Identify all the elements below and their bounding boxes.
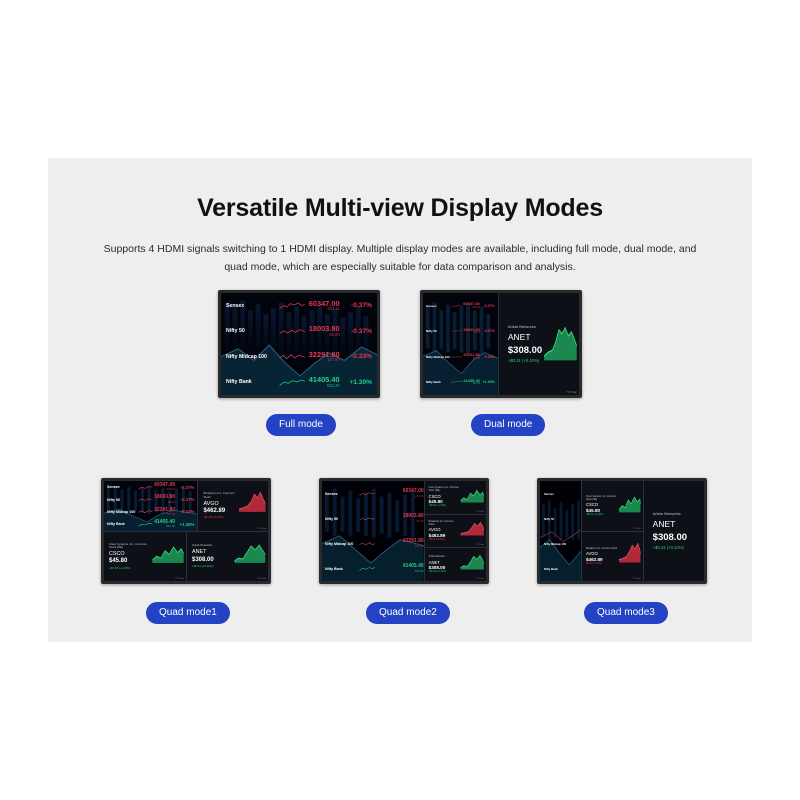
sparkline-icon — [279, 301, 306, 310]
index-name: Sensex — [540, 492, 581, 496]
index-name: Nifty Bank — [540, 567, 581, 571]
index-change: 66.20 — [168, 501, 175, 504]
index-row: Nifty Midcap 100 32291.80 107.00 -0.33% — [221, 344, 377, 370]
index-name: Nifty Bank — [322, 567, 359, 571]
index-name: Nifty 50 — [423, 329, 451, 333]
stock-change: +$0.31 (+0.10%) — [192, 564, 232, 568]
area-chart-icon — [459, 548, 486, 581]
stock-ticker: AVGO — [586, 551, 617, 556]
chart-label: YTD Chart — [257, 578, 266, 580]
stock-change: +$0.31 (+0.10%) — [429, 571, 459, 573]
index-row: Nifty Bank — [540, 556, 581, 581]
index-name: Nifty Bank — [104, 522, 138, 526]
index-change: 107.00 — [473, 358, 480, 361]
chart-label: YTD Chart — [476, 579, 484, 580]
index-row: Nifty Midcap 100 32291.80 107.00 -0.33% — [104, 506, 197, 518]
quad1-bottom-row: Cisco Systems, Inc. Common Stock (DE) CS… — [104, 532, 268, 582]
index-row: Nifty 50 — [540, 506, 581, 531]
index-change: 224.11 — [166, 488, 175, 491]
stock-price: $308.00 — [653, 532, 704, 543]
sparkline-icon — [138, 509, 153, 514]
chart-label: YTD Chart — [476, 512, 484, 513]
page-description: Supports 4 HDMI signals switching to 1 H… — [100, 240, 700, 277]
stock-chart: YTD Chart — [617, 481, 642, 531]
sparkline-icon — [359, 541, 375, 547]
quad1-top-row: Sensex 60347.00 224.11 -0.37% Nifty 5 — [104, 481, 268, 531]
index-values: 32291.80 107.00 — [463, 353, 480, 360]
index-row: Nifty Bank 41405.40 532.30 +1.30% — [221, 370, 377, 396]
index-row: Nifty Midcap 100 32291.80 107.00 -0.33% — [423, 344, 498, 370]
stock-company: Arista Networks — [653, 512, 704, 517]
screen-quad-mode-3: Sensex Nifty 50 Nifty Midcap 100 Nifty B… — [540, 481, 704, 581]
index-values: 18003.80 66.20 — [305, 325, 339, 337]
stock-price: $45.80 — [109, 558, 150, 564]
chart-label: YTD Chart — [175, 578, 184, 580]
area-chart-icon — [237, 481, 268, 531]
sparkline-icon — [279, 352, 306, 361]
stock-info: Broadcom Inc. Common Stock AVGO $462.89 … — [198, 492, 237, 519]
index-percent: -0.37% — [480, 329, 498, 333]
index-name: Sensex — [221, 303, 279, 309]
sparkline-icon — [359, 516, 375, 522]
chart-label: YTD Chart — [633, 529, 641, 530]
indices-rows: Sensex 60347.00 224.11 -0.37% Nifty 5 — [104, 481, 197, 531]
index-name: Nifty 50 — [104, 498, 138, 502]
stock-chart: YTD Chart — [232, 532, 268, 582]
index-values: 32291.80 107.00 — [153, 508, 175, 516]
stock-ticker: ANET — [192, 549, 232, 555]
monitor-quad-mode-2[interactable]: Sensex 60347.00 224.11 Nifty 50 — [319, 478, 489, 584]
stock-company: Cisco Systems, Inc. Common Stock (DE) — [109, 543, 150, 550]
stock-company: Broadcom Inc. Common Stock — [203, 492, 237, 499]
area-chart-icon — [542, 293, 579, 395]
stock-price: $462.89 — [586, 557, 617, 562]
index-values: 60347.00 224.11 — [153, 483, 175, 491]
index-row: Nifty 50 18003.80 66.20 -0.37% — [104, 493, 197, 505]
stock-ticker: CSCO — [429, 494, 459, 499]
sparkline-icon — [359, 566, 375, 572]
stock-change: +$0.54 (+1.19%) — [109, 566, 150, 570]
screen-quad-mode-2: Sensex 60347.00 224.11 Nifty 50 — [322, 481, 486, 581]
stock-ticker: CSCO — [109, 551, 150, 557]
index-row: Nifty Bank 41405.40 532.30 +1.30% — [423, 370, 498, 396]
chart-label: YTD Chart — [257, 528, 266, 530]
index-row: Nifty 50 18003.80 66.20 -0.37% — [423, 319, 498, 345]
dual-mode-button[interactable]: Dual mode — [471, 414, 545, 436]
index-percent: -0.37% — [480, 304, 498, 308]
stock-chart: YTD Chart — [459, 515, 486, 548]
index-values: 32291.80 107.00 — [305, 351, 339, 363]
index-values: 60347.00 224.11 — [305, 300, 339, 312]
index-row: Nifty Midcap 100 — [540, 531, 581, 556]
stock-company: Broadcom Inc. Common Stock — [429, 521, 459, 527]
index-change: 66.20 — [416, 520, 423, 523]
stock-info: Arista Networks ANET $308.00 +$0.31 (+0.… — [499, 325, 542, 363]
index-change: 66.20 — [474, 332, 480, 335]
index-values: 18003.80 66.20 — [375, 514, 424, 522]
index-change: 224.11 — [327, 307, 339, 311]
area-chart-icon — [459, 481, 486, 514]
index-values: 41405.40 532.30 — [305, 376, 339, 388]
index-name: Nifty Bank — [423, 380, 451, 384]
sparkline-icon — [279, 378, 306, 387]
index-values: 60347.00 224.11 — [375, 489, 424, 497]
stock-info: Cisco Systems, Inc. Common Stock (DE) CS… — [104, 543, 150, 570]
index-values: 32291.80 107.00 — [375, 539, 424, 547]
index-values: 41405.40 532.30 — [375, 564, 424, 572]
quad-mode-2-button[interactable]: Quad mode2 — [366, 602, 450, 624]
full-mode-button[interactable]: Full mode — [266, 414, 336, 436]
stock-info: Broadcom Inc. Common Stock AVGO $462.89 … — [425, 521, 459, 541]
stock-price: $45.80 — [586, 508, 617, 513]
sparkline-icon — [451, 304, 462, 308]
index-name: Nifty Midcap 100 — [322, 542, 359, 546]
stock-ticker: ANET — [653, 519, 704, 529]
stock-chart: YTD Chart — [459, 481, 486, 514]
index-name: Nifty 50 — [540, 517, 581, 521]
stock-change: -$0.99 (-0.21%) — [203, 515, 237, 519]
index-change: 224.11 — [473, 307, 480, 310]
stock-chart: YTD Chart — [542, 293, 579, 395]
page-title: Versatile Multi-view Display Modes — [48, 194, 752, 223]
stock-chart: YTD Chart — [237, 481, 268, 531]
stock-change: +$0.54 (+1.19%) — [429, 505, 459, 507]
area-chart-icon — [617, 532, 642, 582]
index-percent: -0.37% — [175, 485, 197, 490]
index-change: 224.11 — [415, 495, 424, 498]
sparkline-icon — [279, 327, 306, 336]
index-row: Sensex 60347.00 224.11 -0.37% — [423, 293, 498, 319]
stock-card-anet: Arista Networks ANET $308.00 +$0.31 (+0.… — [499, 293, 579, 395]
stock-company: Cisco Systems, Inc. Common Stock (DE) — [586, 496, 617, 502]
index-change: 532.30 — [415, 570, 424, 573]
indices-rows: Sensex 60347.00 224.11 Nifty 50 — [322, 481, 424, 581]
quad-mode-3-button[interactable]: Quad mode3 — [584, 602, 668, 624]
stock-change: +$0.31 (+0.10%) — [508, 358, 542, 363]
stock-ticker: AVGO — [429, 527, 459, 532]
stock-change: +$0.31 (+0.10%) — [653, 545, 704, 550]
stock-card-avgo: Broadcom Inc. Common Stock AVGO $462.89 … — [425, 515, 486, 548]
indices-board: Sensex 60347.00 224.11 -0.37% Nifty 50 — [423, 293, 498, 395]
sparkline-icon — [451, 355, 462, 359]
index-row: Nifty 50 18003.80 66.20 -0.37% — [221, 319, 377, 345]
stock-chart: YTD Chart — [617, 532, 642, 582]
index-name: Nifty Midcap 100 — [221, 354, 279, 360]
stock-card-csco: Cisco Systems, Inc. Common Stock (DE) CS… — [425, 481, 486, 514]
stock-price: $462.89 — [203, 508, 237, 514]
quad3-middle-column: Cisco Systems, Inc. Common Stock (DE) CS… — [582, 481, 643, 581]
area-chart-icon — [150, 532, 186, 582]
area-chart-icon — [459, 515, 486, 548]
sparkline-icon — [138, 497, 153, 502]
area-chart-icon — [232, 532, 268, 582]
stock-card-csco: Cisco Systems, Inc. Common Stock (DE) CS… — [582, 481, 643, 531]
monitor-dual-mode[interactable]: Sensex 60347.00 224.11 -0.37% Nifty 50 — [420, 290, 582, 398]
index-percent: +1.30% — [175, 522, 197, 527]
stock-price: $308.00 — [192, 557, 232, 563]
area-chart-icon — [617, 481, 642, 531]
chart-label: YTD Chart — [633, 579, 641, 580]
page-root: Versatile Multi-view Display Modes Suppo… — [0, 0, 800, 800]
index-values: 60347.00 224.11 — [463, 302, 480, 309]
stock-card-avgo: Broadcom Inc. Common Stock AVGO $462.89 … — [582, 532, 643, 582]
index-percent: -0.33% — [175, 509, 197, 514]
index-row: Sensex — [540, 481, 581, 506]
index-percent: -0.37% — [175, 497, 197, 502]
stock-ticker: AVGO — [203, 501, 237, 507]
stock-chart: YTD Chart — [459, 548, 486, 581]
stock-info: Arista Networks ANET $308.00 +$0.31 (+0.… — [425, 556, 459, 573]
index-name: Nifty Midcap 100 — [423, 355, 451, 359]
index-name: Sensex — [423, 304, 451, 308]
index-change: 532.30 — [327, 384, 340, 388]
screen-dual-mode: Sensex 60347.00 224.11 -0.37% Nifty 50 — [423, 293, 579, 395]
index-row: Sensex 60347.00 224.11 -0.37% — [221, 293, 377, 319]
stock-company: Arista Networks — [192, 544, 232, 547]
index-change: 107.00 — [166, 513, 175, 516]
index-row: Nifty 50 18003.80 66.20 — [322, 506, 424, 531]
screen-full-mode: Sensex 60347.00 224.11 -0.37% Nifty 50 — [221, 293, 377, 395]
quad2-stock-column: Cisco Systems, Inc. Common Stock (DE) CS… — [425, 481, 486, 581]
index-name: Nifty 50 — [221, 328, 279, 334]
stock-company: Arista Networks — [508, 325, 542, 330]
indices-rows: Sensex 60347.00 224.11 -0.37% Nifty 50 — [221, 293, 377, 395]
screen-quad-mode-1: Sensex 60347.00 224.11 -0.37% Nifty 5 — [104, 481, 268, 581]
stock-card-anet: Arista Networks ANET $308.00 +$0.31 (+0.… — [644, 481, 704, 581]
indices-board: Sensex 60347.00 224.11 -0.37% Nifty 5 — [104, 481, 197, 531]
stock-price: $308.00 — [508, 345, 542, 356]
index-values: 41405.40 532.30 — [153, 520, 175, 528]
stock-card-anet: Arista Networks ANET $308.00 +$0.31 (+0.… — [187, 532, 268, 582]
index-values: 41405.40 532.30 — [463, 379, 480, 386]
indices-rows: Sensex 60347.00 224.11 -0.37% Nifty 50 — [423, 293, 498, 395]
indices-rows: Sensex Nifty 50 Nifty Midcap 100 Nifty B… — [540, 481, 581, 581]
index-row: Nifty Midcap 100 32291.80 107.00 — [322, 531, 424, 556]
index-name: Nifty Bank — [221, 379, 279, 385]
sparkline-icon — [451, 329, 462, 333]
index-change: 532.30 — [473, 383, 480, 386]
stock-ticker: CSCO — [586, 502, 617, 507]
stock-price: $462.89 — [429, 533, 459, 538]
sparkline-icon — [359, 491, 375, 497]
stock-company: Broadcom Inc. Common Stock — [586, 548, 617, 551]
stock-card-anet: Arista Networks ANET $308.00 +$0.31 (+0.… — [425, 548, 486, 581]
chart-label: YTD Chart — [566, 391, 577, 394]
sparkline-icon — [138, 522, 153, 527]
index-name: Nifty 50 — [322, 517, 359, 521]
stock-company: Cisco Systems, Inc. Common Stock (DE) — [429, 487, 459, 493]
stock-info: Cisco Systems, Inc. Common Stock (DE) CS… — [425, 487, 459, 507]
sparkline-icon — [138, 485, 153, 490]
index-change: 532.30 — [166, 525, 175, 528]
stock-ticker: ANET — [508, 332, 542, 342]
index-row: Nifty Bank 41405.40 532.30 — [322, 556, 424, 581]
stock-info: Cisco Systems, Inc. Common Stock (DE) CS… — [582, 496, 617, 516]
index-change: 107.00 — [415, 545, 424, 548]
index-row: Nifty Bank 41405.40 532.30 +1.30% — [104, 518, 197, 530]
stock-change: -$0.99 (-0.21%) — [586, 563, 617, 565]
stock-change: +$0.54 (+1.19%) — [586, 514, 617, 516]
chart-label: YTD Chart — [476, 545, 484, 546]
index-change: 66.20 — [329, 333, 339, 337]
index-percent: -0.37% — [340, 302, 377, 309]
stock-card-avgo: Broadcom Inc. Common Stock AVGO $462.89 … — [198, 481, 268, 531]
stock-card-csco: Cisco Systems, Inc. Common Stock (DE) CS… — [104, 532, 186, 582]
stock-chart: YTD Chart — [150, 532, 186, 582]
stock-ticker: ANET — [429, 560, 459, 565]
index-percent: -0.33% — [480, 355, 498, 359]
index-change: 107.00 — [327, 358, 340, 362]
quad-mode-1-button[interactable]: Quad mode1 — [146, 602, 230, 624]
index-values: 18003.80 66.20 — [463, 328, 480, 335]
indices-board: Sensex 60347.00 224.11 -0.37% Nifty 50 — [221, 293, 377, 395]
index-values: 18003.80 66.20 — [153, 495, 175, 503]
stock-company: Arista Networks — [429, 556, 459, 559]
stock-price: $45.80 — [429, 499, 459, 504]
index-percent: +1.30% — [480, 380, 498, 384]
stock-info: Broadcom Inc. Common Stock AVGO $462.89 … — [582, 548, 617, 565]
indices-board: Sensex Nifty 50 Nifty Midcap 100 Nifty B… — [540, 481, 581, 581]
index-row: Sensex 60347.00 224.11 — [322, 481, 424, 506]
index-percent: -0.33% — [340, 353, 377, 360]
index-name: Nifty Midcap 100 — [104, 510, 138, 514]
stock-info: Arista Networks ANET $308.00 +$0.31 (+0.… — [187, 544, 232, 568]
sparkline-icon — [451, 380, 462, 384]
index-row: Sensex 60347.00 224.11 -0.37% — [104, 481, 197, 493]
index-percent: -0.37% — [340, 328, 377, 335]
stock-info: Arista Networks ANET $308.00 +$0.31 (+0.… — [644, 512, 704, 550]
stock-change: -$0.99 (-0.21%) — [429, 539, 459, 541]
monitor-full-mode[interactable]: Sensex 60347.00 224.11 -0.37% Nifty 50 — [218, 290, 380, 398]
index-name: Nifty Midcap 100 — [540, 542, 581, 546]
index-name: Sensex — [104, 485, 138, 489]
monitor-quad-mode-3[interactable]: Sensex Nifty 50 Nifty Midcap 100 Nifty B… — [537, 478, 707, 584]
index-percent: +1.30% — [340, 379, 377, 386]
indices-board: Sensex 60347.00 224.11 Nifty 50 — [322, 481, 424, 581]
index-name: Sensex — [322, 492, 359, 496]
monitor-quad-mode-1[interactable]: Sensex 60347.00 224.11 -0.37% Nifty 5 — [101, 478, 271, 584]
stock-price: $308.00 — [429, 565, 459, 570]
